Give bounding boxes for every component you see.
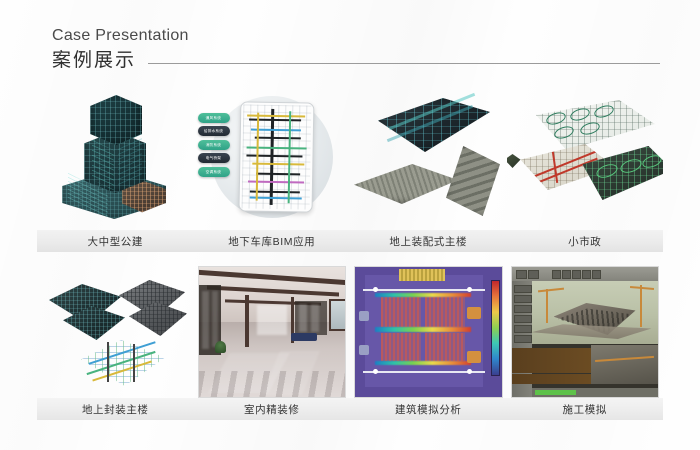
garage-label-2: 给排水系统 — [198, 126, 230, 136]
gallery-row-2 — [37, 266, 663, 398]
case-cell-construction[interactable] — [507, 266, 664, 398]
caption-garage: 地下车库BIM应用 — [194, 230, 351, 252]
garage-system-labels: 通风系统 给排水系统 消防系统 电气桥架 空调系统 — [198, 113, 230, 177]
caption-simulation: 建筑模拟分析 — [350, 398, 507, 420]
simulation-colorbar — [491, 280, 500, 376]
caption-interior: 室内精装修 — [194, 398, 351, 420]
garage-label-1: 通风系统 — [198, 113, 230, 123]
caption-text: 小市政 — [568, 234, 601, 249]
slide-header: Case Presentation 案例展示 — [52, 26, 660, 73]
photo-4d-construction — [511, 266, 660, 398]
caption-text: 建筑模拟分析 — [395, 402, 462, 417]
caption-text: 施工模拟 — [563, 402, 607, 417]
caption-shell: 地上封装主楼 — [37, 398, 194, 420]
caption-text: 地下车库BIM应用 — [228, 234, 315, 249]
title-english: Case Presentation — [52, 26, 660, 46]
garage-plan-card — [238, 101, 314, 212]
caption-text: 地上封装主楼 — [82, 402, 149, 417]
case-cell-interior[interactable] — [194, 266, 351, 398]
garage-label-5: 空调系统 — [198, 167, 230, 177]
art-isometric-highrise — [37, 84, 194, 230]
case-cell-garage[interactable]: 通风系统 给排水系统 消防系统 电气桥架 空调系统 — [194, 84, 351, 230]
caption-text: 大中型公建 — [88, 234, 144, 249]
case-cell-municipal[interactable] — [507, 84, 664, 230]
caption-construction: 施工模拟 — [507, 398, 664, 420]
art-garage-circle: 通风系统 给排水系统 消防系统 电气桥架 空调系统 — [194, 84, 351, 230]
art-municipal-plans — [507, 84, 664, 230]
caption-municipal: 小市政 — [507, 230, 664, 252]
caption-text: 地上装配式主楼 — [389, 234, 467, 249]
case-grid: 通风系统 给排水系统 消防系统 电气桥架 空调系统 — [37, 84, 663, 420]
garage-label-4: 电气桥架 — [198, 153, 230, 163]
photo-interior-corridor — [198, 266, 347, 398]
caption-text: 室内精装修 — [244, 402, 300, 417]
garage-label-3: 消防系统 — [198, 140, 230, 150]
gallery-row-1: 通风系统 给排水系统 消防系统 电气桥架 空调系统 — [37, 84, 663, 230]
art-prefab-components — [350, 84, 507, 230]
caption-row-1: 大中型公建 地下车库BIM应用 地上装配式主楼 小市政 — [37, 230, 663, 252]
case-cell-shell[interactable] — [37, 266, 194, 398]
caption-prefab: 地上装配式主楼 — [350, 230, 507, 252]
caption-row-2: 地上封装主楼 室内精装修 建筑模拟分析 施工模拟 — [37, 398, 663, 420]
case-cell-simulation[interactable] — [350, 266, 507, 398]
art-shell-models — [37, 266, 194, 396]
title-chinese: 案例展示 — [52, 49, 136, 73]
title-divider-rule — [148, 63, 660, 64]
caption-highrise: 大中型公建 — [37, 230, 194, 252]
title-row: 案例展示 — [52, 49, 660, 73]
case-cell-highrise[interactable] — [37, 84, 194, 230]
slide-canvas: Case Presentation 案例展示 — [0, 0, 700, 450]
case-cell-prefab[interactable] — [350, 84, 507, 230]
photo-simulation-heatmap — [354, 266, 503, 398]
